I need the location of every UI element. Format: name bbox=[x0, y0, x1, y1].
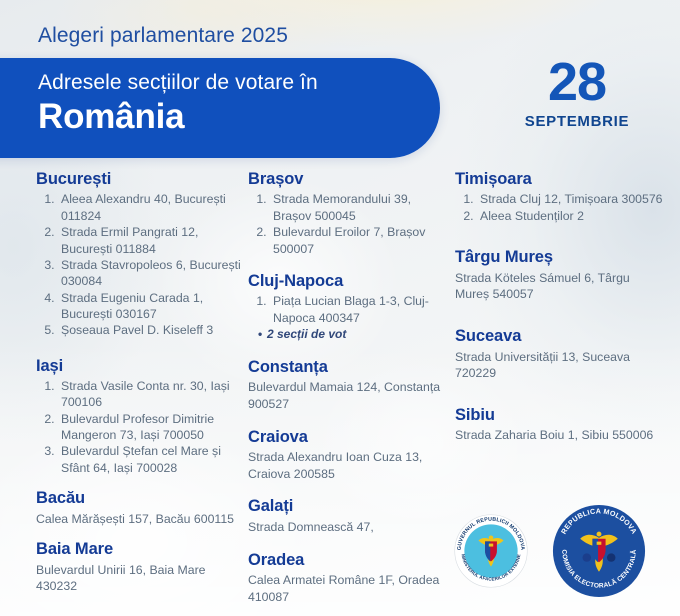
city-name: Oradea bbox=[248, 551, 448, 570]
address-item: Strada Memorandului 39, Brașov 500045 bbox=[270, 191, 448, 224]
city-block: GalațiStrada Domnească 47, bbox=[248, 497, 448, 535]
title-banner: Adresele secțiilor de votare în România bbox=[0, 58, 440, 158]
city-name: Bacău bbox=[36, 489, 241, 508]
address-item: Strada Alexandru Ioan Cuza 13, Craiova 2… bbox=[248, 449, 448, 482]
event-kicker: Alegeri parlamentare 2025 bbox=[38, 24, 288, 48]
city-block: Târgu MureșStrada Köteles Sámuel 6, Târg… bbox=[455, 248, 665, 303]
city-block: SuceavaStrada Universității 13, Suceava … bbox=[455, 327, 665, 382]
address-item: Bulevardul Ștefan cel Mare și Sfânt 64, … bbox=[58, 443, 241, 476]
city-block: IașiStrada Vasile Conta nr. 30, Iași 700… bbox=[36, 357, 241, 477]
address-item: Strada Zaharia Boiu 1, Sibiu 550006 bbox=[455, 427, 665, 444]
title-line-2: România bbox=[38, 97, 184, 137]
date-day: 28 bbox=[492, 56, 662, 109]
city-name: Târgu Mureș bbox=[455, 248, 665, 267]
address-list: Strada Vasile Conta nr. 30, Iași 700106B… bbox=[36, 378, 241, 476]
address-item: Strada Vasile Conta nr. 30, Iași 700106 bbox=[58, 378, 241, 411]
city-block: ConstanțaBulevardul Mamaia 124, Constanț… bbox=[248, 358, 448, 413]
address-item: Strada Universității 13, Suceava 720229 bbox=[455, 349, 665, 382]
address-list: Strada Cluj 12, Timișoara 300576Aleea St… bbox=[455, 191, 665, 224]
address-item: Strada Eugeniu Carada 1, București 03016… bbox=[58, 290, 241, 323]
address-item: Piața Lucian Blaga 1-3, Cluj-Napoca 4003… bbox=[270, 293, 448, 326]
address-item: Șoseaua Pavel D. Kiseleff 3 bbox=[58, 322, 241, 338]
address-list: Piața Lucian Blaga 1-3, Cluj-Napoca 4003… bbox=[248, 293, 448, 326]
address-item: Calea Armatei Române 1F, Oradea 410087 bbox=[248, 572, 448, 605]
city-name: Suceava bbox=[455, 327, 665, 346]
address-item: Strada Ermil Pangrati 12, București 0118… bbox=[58, 224, 241, 257]
city-column-2: BrașovStrada Memorandului 39, Brașov 500… bbox=[248, 170, 448, 616]
address-item: Bulevardul Eroilor 7, Brașov 500007 bbox=[270, 224, 448, 257]
city-block: Baia MareBulevardul Unirii 16, Baia Mare… bbox=[36, 540, 241, 595]
address-list: Aleea Alexandru 40, București 011824Stra… bbox=[36, 191, 241, 338]
city-block: BucureștiAleea Alexandru 40, București 0… bbox=[36, 170, 241, 339]
city-column-3: TimișoaraStrada Cluj 12, Timișoara 30057… bbox=[455, 170, 665, 468]
address-list: Strada Memorandului 39, Brașov 500045Bul… bbox=[248, 191, 448, 256]
city-block: BacăuCalea Mărășești 157, Bacău 600115 bbox=[36, 489, 241, 527]
address-item: Strada Köteles Sámuel 6, Târgu Mureș 540… bbox=[455, 270, 665, 303]
address-item: Bulevardul Profesor Dimitrie Mangeron 73… bbox=[58, 411, 241, 444]
city-name: Timișoara bbox=[455, 170, 665, 189]
city-block: TimișoaraStrada Cluj 12, Timișoara 30057… bbox=[455, 170, 665, 224]
city-block: SibiuStrada Zaharia Boiu 1, Sibiu 550006 bbox=[455, 406, 665, 444]
city-name: București bbox=[36, 170, 241, 189]
city-name: Constanța bbox=[248, 358, 448, 377]
city-name: Galați bbox=[248, 497, 448, 516]
city-note: 2 secții de vot bbox=[258, 327, 448, 343]
city-name: Craiova bbox=[248, 428, 448, 447]
address-item: Calea Mărășești 157, Bacău 600115 bbox=[36, 511, 241, 528]
city-block: BrașovStrada Memorandului 39, Brașov 500… bbox=[248, 170, 448, 257]
date-month: SEPTEMBRIE bbox=[492, 113, 662, 130]
city-name: Brașov bbox=[248, 170, 448, 189]
address-item: Aleea Alexandru 40, București 011824 bbox=[58, 191, 241, 224]
city-block: CraiovaStrada Alexandru Ioan Cuza 13, Cr… bbox=[248, 428, 448, 483]
city-block: Cluj-NapocaPiața Lucian Blaga 1-3, Cluj-… bbox=[248, 272, 448, 343]
address-item: Strada Stavropoleos 6, București 030084 bbox=[58, 257, 241, 290]
address-item: Bulevardul Unirii 16, Baia Mare 430232 bbox=[36, 562, 241, 595]
address-item: Aleea Studenților 2 bbox=[477, 208, 665, 224]
mae-moldova-emblem: GUVERNUL REPUBLICII MOLDOVA MINISTERUL A… bbox=[454, 514, 528, 588]
city-name: Sibiu bbox=[455, 406, 665, 425]
city-name: Baia Mare bbox=[36, 540, 241, 559]
event-date: 28 SEPTEMBRIE bbox=[492, 56, 662, 130]
title-line-1: Adresele secțiilor de votare în bbox=[38, 71, 318, 95]
address-item: Strada Domnească 47, bbox=[248, 519, 448, 536]
poster-canvas: Alegeri parlamentare 2025 Adresele secți… bbox=[0, 0, 680, 616]
city-name: Iași bbox=[36, 357, 241, 376]
cec-moldova-emblem: REPUBLICA MOLDOVA COMISIA ELECTORALĂ CEN… bbox=[552, 504, 646, 598]
city-column-1: BucureștiAleea Alexandru 40, București 0… bbox=[36, 170, 241, 608]
institution-emblems: GUVERNUL REPUBLICII MOLDOVA MINISTERUL A… bbox=[448, 500, 658, 606]
city-block: OradeaCalea Armatei Române 1F, Oradea 41… bbox=[248, 551, 448, 606]
city-note-list: 2 secții de vot bbox=[248, 327, 448, 343]
address-item: Strada Cluj 12, Timișoara 300576 bbox=[477, 191, 665, 207]
address-item: Bulevardul Mamaia 124, Constanța 900527 bbox=[248, 379, 448, 412]
city-name: Cluj-Napoca bbox=[248, 272, 448, 291]
